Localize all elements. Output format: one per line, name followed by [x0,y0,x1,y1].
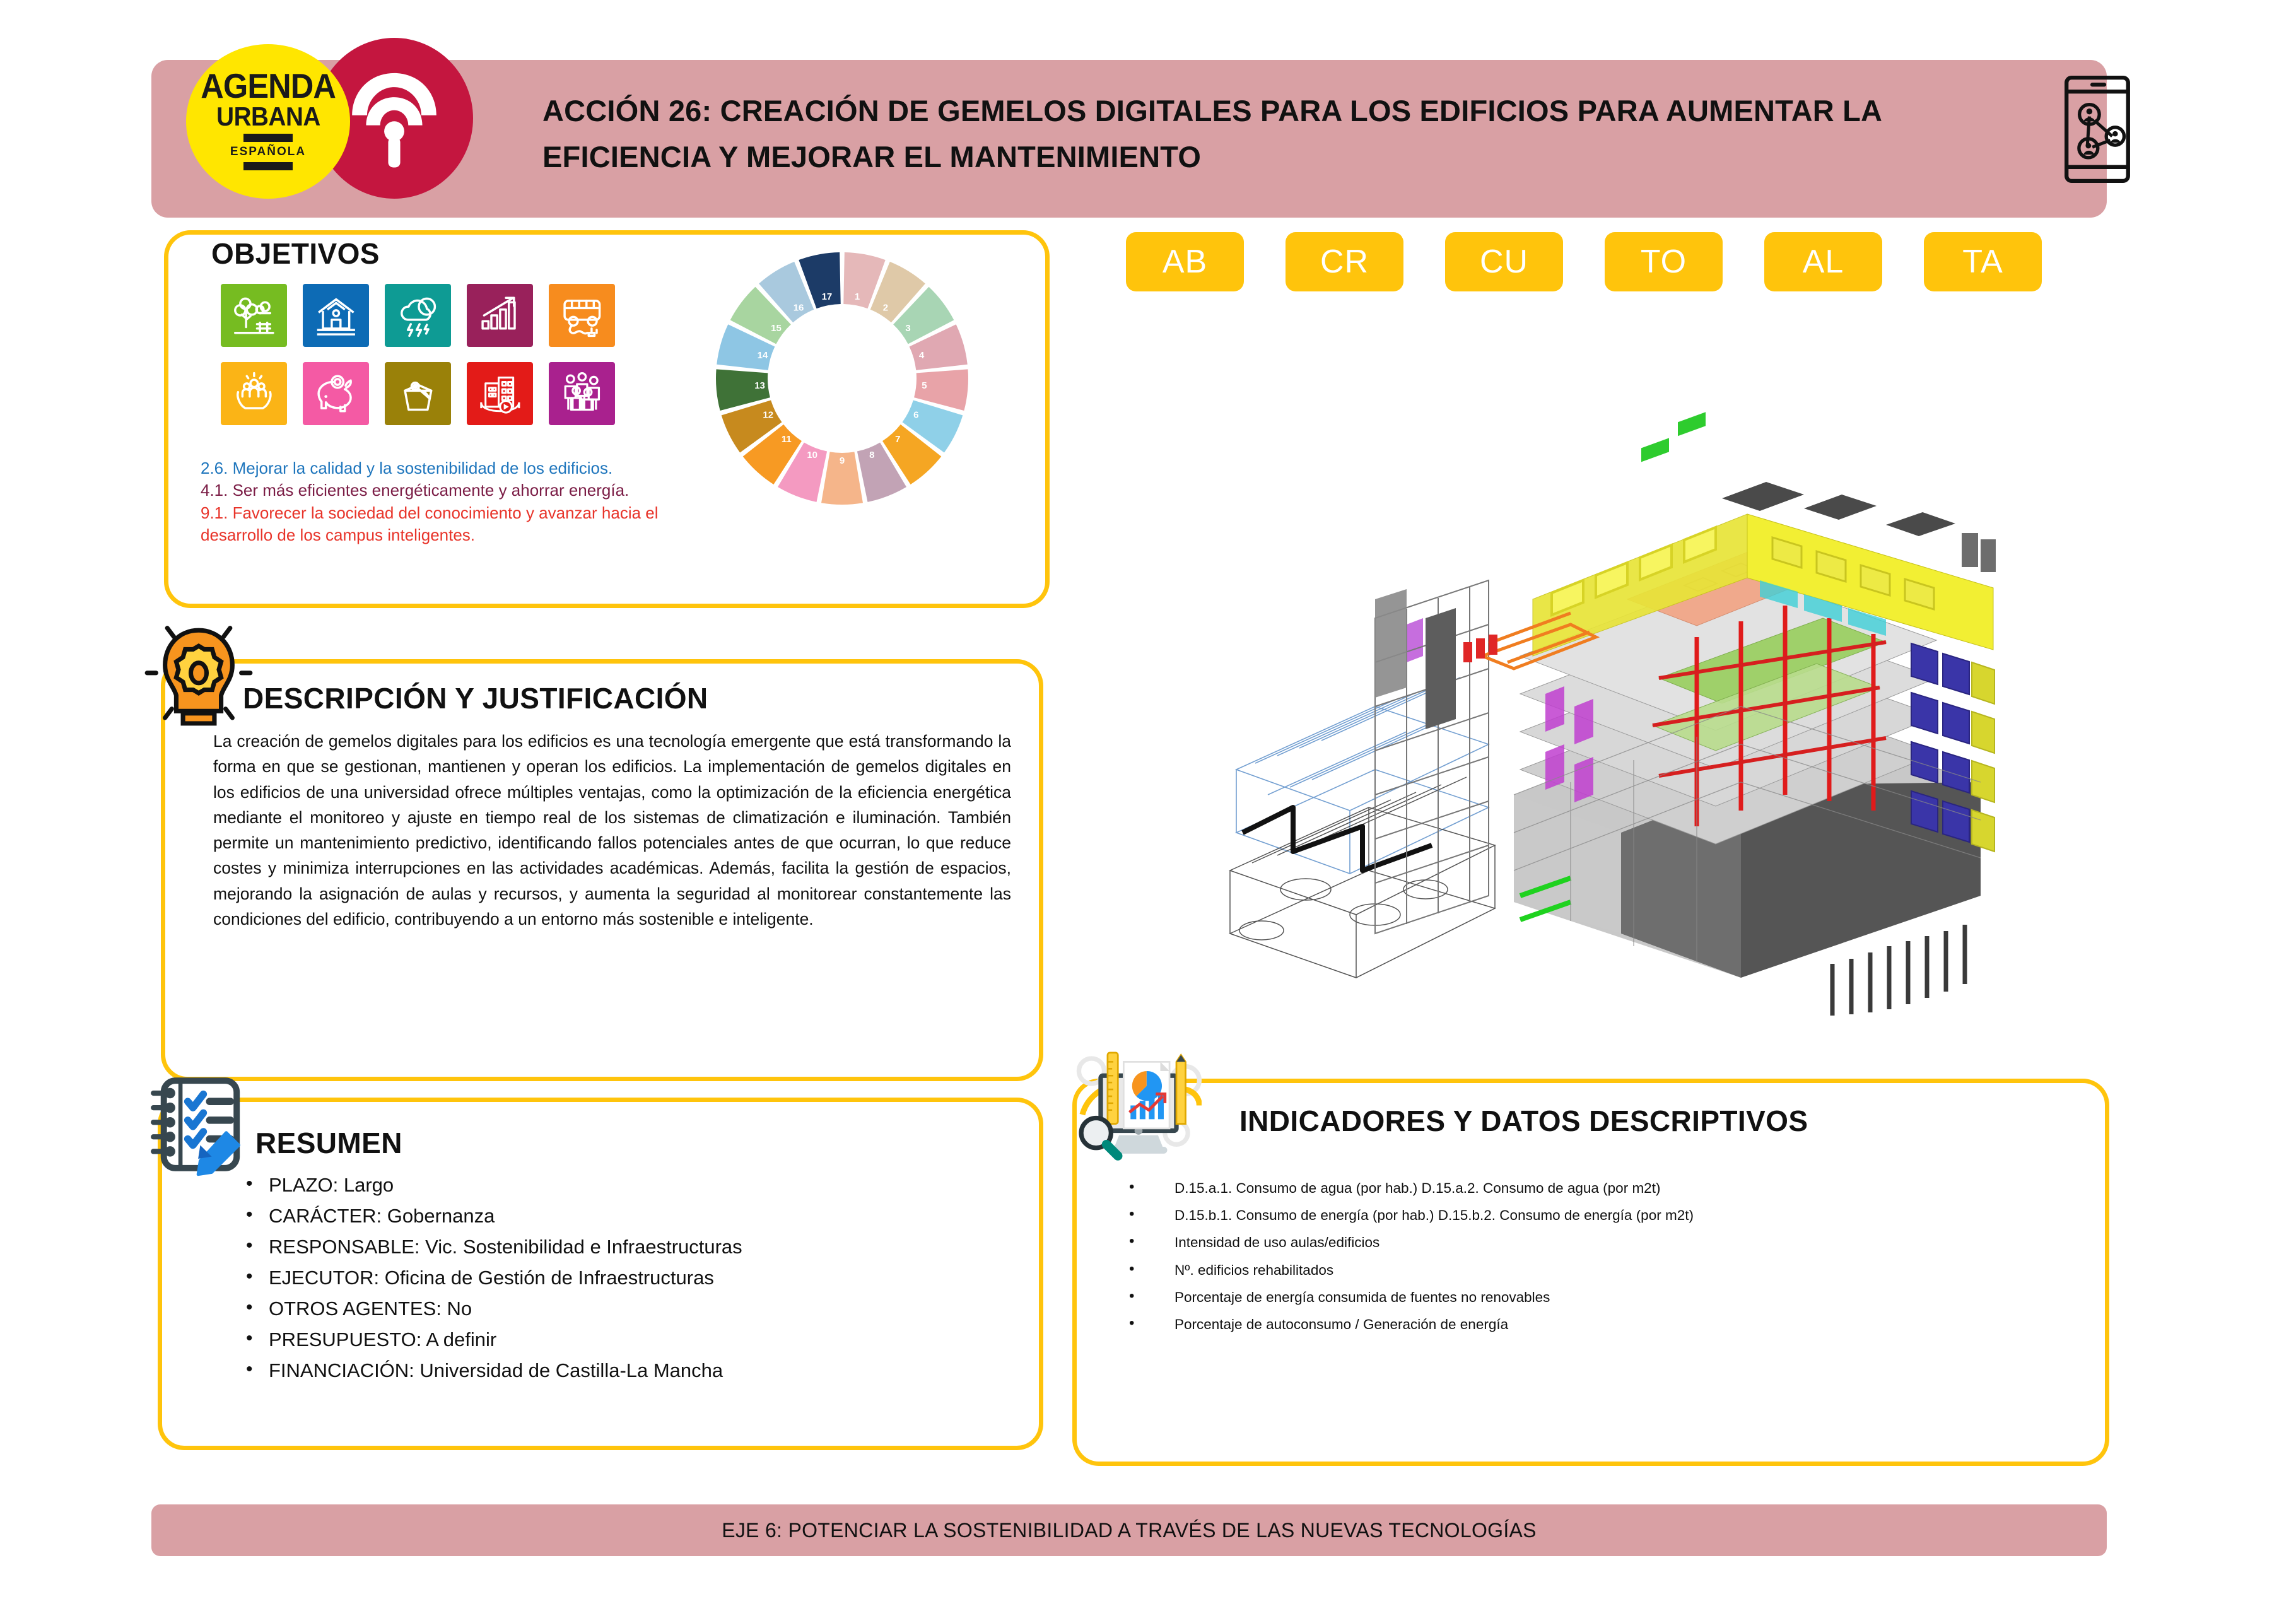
tag-ab[interactable]: AB [1126,232,1244,291]
objetivos-title: OBJETIVOS [211,237,380,271]
smartphone-network-icon [2059,76,2135,183]
tag-to[interactable]: TO [1605,232,1723,291]
objetivo-item: 4.1. Ser más eficientes energéticamente … [201,479,724,501]
tag-ta[interactable]: TA [1924,232,2042,291]
storm-cloud-icon [385,284,451,347]
group-people-icon [549,362,615,425]
sdg-segment-number: 7 [895,434,900,445]
list-item: Nº. edificios rehabilitados [1129,1257,2063,1284]
list-item: Porcentaje de energía consumida de fuent… [1129,1284,2063,1311]
city-buildings-icon [467,362,533,425]
list-item: PLAZO: Largo [240,1170,965,1201]
logo-line-urbana: URBANA [216,103,320,131]
indicadores-list: D.15.a.1. Consumo de agua (por hab.) D.1… [1129,1175,2063,1338]
house-keys-icon [385,362,451,425]
list-item: D.15.b.1. Consumo de energía (por hab.) … [1129,1202,2063,1229]
sdg-wheel-icon: 1234567891011121314151617 [710,246,975,511]
resumen-list: PLAZO: Largo CARÁCTER: Gobernanza RESPON… [240,1170,965,1386]
piggy-bank-icon [303,362,369,425]
sdg-segment-number: 10 [807,450,817,460]
park-trees-icon [221,284,287,347]
list-item: D.15.a.1. Consumo de agua (por hab.) D.1… [1129,1175,2063,1202]
logo-line-agenda: AGENDA [201,69,336,102]
sdg-segment-number: 17 [822,291,833,302]
sdg-segment-number: 3 [905,323,910,334]
sdg-segment-number: 2 [883,303,888,313]
list-item: EJECUTOR: Oficina de Gestión de Infraest… [240,1263,965,1294]
logo-line-espanola: ESPAÑOLA [230,145,306,159]
descripcion-body: La creación de gemelos digitales para lo… [213,729,1011,932]
list-item: FINANCIACIÓN: Universidad de Castilla-La… [240,1356,965,1386]
logo-divider-top [243,134,293,142]
sdg-segment-number: 6 [913,409,918,420]
sdg-segment-number: 1 [855,291,860,302]
sdg-segment-number: 4 [919,350,925,361]
house-building-icon [303,284,369,347]
page-title: ACCIÓN 26: CREACIÓN DE GEMELOS DIGITALES… [542,88,2044,180]
sdg-segment-number: 12 [763,409,773,420]
checklist-notepad-icon [145,1072,249,1176]
bim-building-model-render [1217,391,2056,1022]
tag-cr[interactable]: CR [1286,232,1403,291]
tag-al[interactable]: AL [1764,232,1882,291]
resumen-title: RESUMEN [255,1126,402,1160]
objetivo-item: 9.1. Favorecer la sociedad del conocimie… [201,502,724,547]
tag-cu[interactable]: CU [1445,232,1563,291]
footer-label: EJE 6: POTENCIAR LA SOSTENIBILIDAD A TRA… [151,1504,2107,1556]
growth-chart-icon [467,284,533,347]
list-item: CARÁCTER: Gobernanza [240,1201,965,1232]
list-item: Intensidad de uso aulas/edificios [1129,1229,2063,1256]
list-item: OTROS AGENTES: No [240,1294,965,1325]
list-item: RESPONSABLE: Vic. Sostenibilidad e Infra… [240,1232,965,1263]
objetivo-item: 2.6. Mejorar la calidad y la sostenibili… [201,457,724,479]
sdg-segment-number: 8 [869,450,874,460]
objetivos-list: 2.6. Mejorar la calidad y la sostenibili… [201,457,724,546]
tag-row: AB CR CU TO AL TA [1126,232,2042,291]
sdg-segment-number: 5 [922,380,927,391]
list-item: Porcentaje de autoconsumo / Generación d… [1129,1311,2063,1338]
sdg-segment-number: 9 [840,455,845,466]
logo-divider-bottom [243,162,293,170]
descripcion-title: DESCRIPCIÓN Y JUSTIFICACIÓN [243,681,708,715]
lightbulb-gear-icon [142,621,255,738]
objetivos-icon-grid [221,284,615,425]
indicadores-title: INDICADORES Y DATOS DESCRIPTIVOS [1239,1104,1808,1138]
sdg-segment-number: 15 [771,323,782,334]
list-item: PRESUPUESTO: A definir [240,1325,965,1356]
sdg-segment-number: 11 [782,434,792,445]
logo-agenda-urbana: AGENDA URBANA ESPAÑOLA [186,44,350,199]
sdg-segment-number: 14 [758,350,768,361]
hands-people-icon [221,362,287,425]
analytics-dashboard-icon [1075,1047,1202,1164]
electric-bus-icon [549,284,615,347]
sdg-segment-number: 16 [794,303,804,313]
sdg-segment-number: 13 [754,380,765,391]
